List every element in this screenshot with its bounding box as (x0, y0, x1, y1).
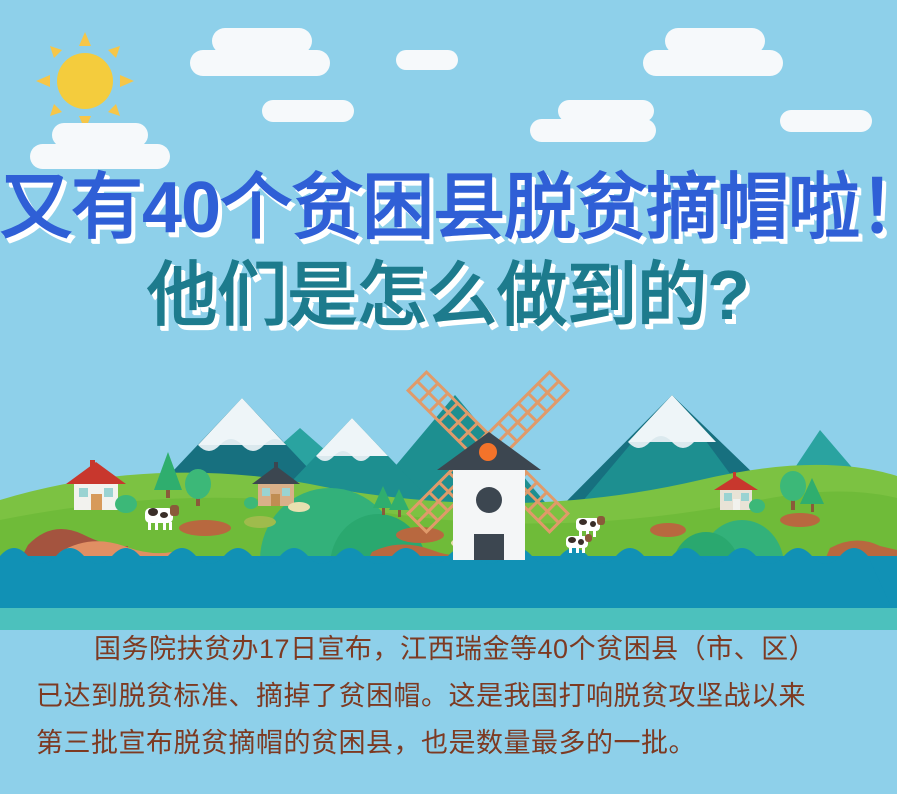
windmill-door (474, 534, 504, 560)
body-line: 国务院扶贫办17日宣布，江西瑞金等40个贫困县（市、区） (36, 626, 861, 673)
windmill-window (476, 487, 502, 513)
soil-patch (179, 520, 231, 536)
body-text-block: 国务院扶贫办17日宣布，江西瑞金等40个贫困县（市、区） 已达到脱贫标准、摘掉了… (36, 626, 861, 767)
infographic-poster: 又有40个贫困县脱贫摘帽啦！ 他们是怎么做到的? 国务院扶贫办17日宣布，江西瑞… (0, 0, 897, 794)
windmill-hub (479, 443, 497, 461)
headline-line-2: 他们是怎么做到的? (0, 260, 897, 330)
body-line: 第三批宣布脱贫摘帽的贫困县，也是数量最多的一批。 (36, 720, 861, 767)
soil-patch (244, 516, 276, 528)
headline-block: 又有40个贫困县脱贫摘帽啦！ 他们是怎么做到的? (0, 172, 897, 330)
mountain-snow-cap (316, 418, 388, 456)
body-line: 已达到脱贫标准、摘掉了贫困帽。这是我国打响脱贫攻坚战以来 (36, 673, 861, 720)
soil-patch (650, 523, 686, 537)
soil-patch (396, 527, 444, 543)
soil-patch (780, 513, 820, 527)
mountain-snow-cap (198, 398, 286, 445)
headline-line-1: 又有40个贫困县脱贫摘帽啦！ (0, 172, 897, 244)
mountain-snow-cap (628, 395, 716, 442)
